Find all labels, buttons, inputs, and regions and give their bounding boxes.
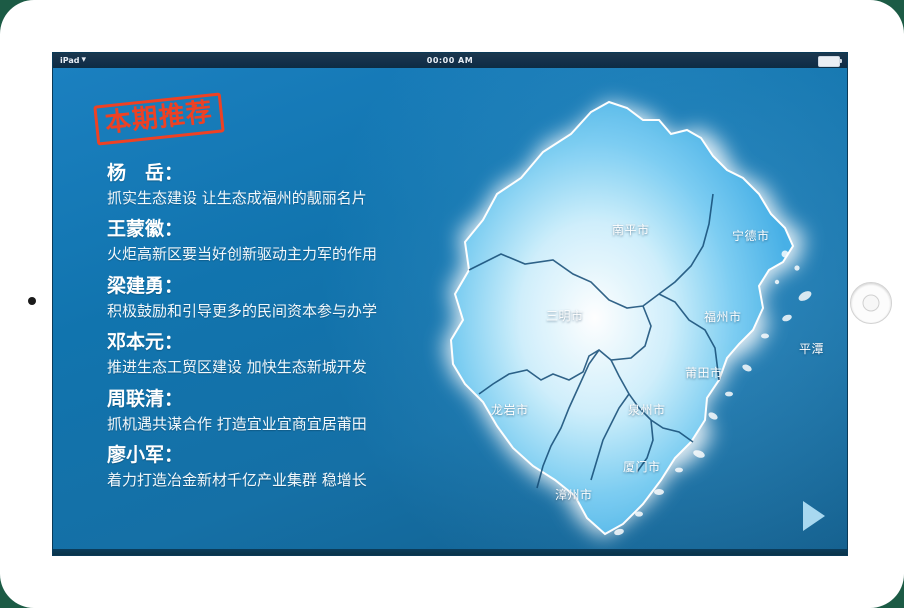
map-city-label[interactable]: 南平市 [612, 221, 650, 238]
map-city-label[interactable]: 龙岩市 [491, 401, 529, 418]
battery-icon [818, 56, 840, 67]
news-item-name: 梁建勇： [87, 273, 447, 300]
news-item-name: 廖小军： [87, 442, 447, 469]
ipad-bezel: iPad ▾ 00:00 AM 本期推荐 杨 岳：抓实生态建设 让生态成福州的靓… [0, 0, 904, 608]
news-item[interactable]: 王蒙徽：火炬高新区要当好创新驱动主力军的作用 [87, 216, 447, 265]
status-bar: iPad ▾ 00:00 AM [53, 53, 847, 68]
news-item-name: 周联清： [87, 386, 447, 413]
news-item[interactable]: 邓本元：推进生态工贸区建设 加快生态新城开发 [87, 329, 447, 378]
news-item-name: 王蒙徽： [87, 216, 447, 243]
news-item-name: 邓本元： [87, 329, 447, 356]
map-graphic [413, 68, 848, 556]
map-city-label[interactable]: 平潭 [799, 340, 824, 357]
fujian-map: 南平市宁德市三明市福州市平潭莆田市龙岩市泉州市厦门市漳州市 [413, 68, 848, 556]
map-city-label[interactable]: 福州市 [704, 308, 742, 325]
screen-content: 本期推荐 杨 岳：抓实生态建设 让生态成福州的靓丽名片王蒙徽：火炬高新区要当好创… [53, 68, 847, 555]
map-city-label[interactable]: 莆田市 [685, 364, 723, 381]
news-item-title: 着力打造冶金新材千亿产业集群 稳增长 [87, 469, 447, 492]
news-item-title: 积极鼓励和引导更多的民间资本参与办学 [87, 300, 447, 323]
map-city-label[interactable]: 厦门市 [623, 458, 661, 475]
screen-bottom-strip [53, 549, 847, 555]
news-list: 杨 岳：抓实生态建设 让生态成福州的靓丽名片王蒙徽：火炬高新区要当好创新驱动主力… [87, 160, 447, 499]
recommend-stamp: 本期推荐 [93, 92, 225, 145]
ipad-screen: iPad ▾ 00:00 AM 本期推荐 杨 岳：抓实生态建设 让生态成福州的靓… [52, 52, 848, 556]
news-item[interactable]: 周联清：抓机遇共谋合作 打造宜业宜商宜居莆田 [87, 386, 447, 435]
map-city-label[interactable]: 三明市 [546, 307, 584, 324]
next-arrow-icon[interactable] [803, 501, 825, 531]
map-city-label[interactable]: 漳州市 [555, 486, 593, 503]
news-item-title: 抓实生态建设 让生态成福州的靓丽名片 [87, 187, 447, 210]
page-root: iPad ▾ 00:00 AM 本期推荐 杨 岳：抓实生态建设 让生态成福州的靓… [0, 0, 904, 608]
camera-icon [28, 297, 36, 305]
news-item-title: 抓机遇共谋合作 打造宜业宜商宜居莆田 [87, 413, 447, 436]
home-button-icon[interactable] [850, 282, 892, 324]
news-item-name: 杨 岳： [87, 160, 447, 187]
news-item-title: 火炬高新区要当好创新驱动主力军的作用 [87, 243, 447, 266]
news-item[interactable]: 杨 岳：抓实生态建设 让生态成福州的靓丽名片 [87, 160, 447, 209]
news-item-title: 推进生态工贸区建设 加快生态新城开发 [87, 356, 447, 379]
status-bar-clock: 00:00 AM [53, 53, 847, 68]
map-city-label[interactable]: 泉州市 [628, 401, 666, 418]
news-item[interactable]: 廖小军：着力打造冶金新材千亿产业集群 稳增长 [87, 442, 447, 491]
news-item[interactable]: 梁建勇：积极鼓励和引导更多的民间资本参与办学 [87, 273, 447, 322]
map-city-label[interactable]: 宁德市 [732, 227, 770, 244]
